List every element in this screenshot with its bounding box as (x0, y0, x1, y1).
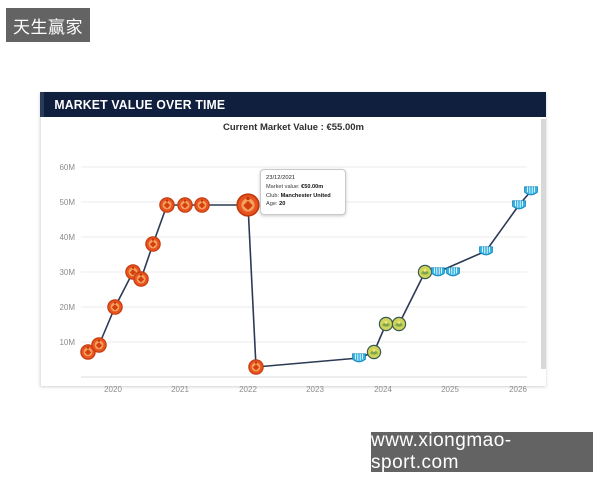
marker-point-16[interactable] (418, 265, 431, 278)
tooltip-age-label: Age: (266, 201, 278, 207)
marker-point-20[interactable] (513, 201, 526, 209)
x-tick-2024: 2024 (374, 385, 392, 394)
marker-point-19[interactable] (480, 247, 493, 255)
chart-tooltip: 23/12/2021 Market value: €50.00m Club: M… (260, 169, 346, 215)
x-tick-2020: 2020 (104, 385, 122, 394)
tooltip-date: 23/12/2021 (266, 174, 340, 183)
marker-point-9[interactable] (195, 198, 209, 212)
x-tick-2026: 2026 (509, 385, 527, 394)
card-scrollbar[interactable] (541, 119, 546, 369)
market-value-line (88, 191, 531, 367)
marker-point-21[interactable] (525, 187, 538, 195)
tooltip-market-value: €50.00m (301, 184, 323, 190)
marker-point-5[interactable] (134, 272, 148, 286)
marker-point-3[interactable] (108, 300, 122, 314)
watermark-bottom-right: www.xiongmao-sport.com (371, 432, 593, 472)
marker-point-2[interactable] (92, 338, 106, 352)
chart-y-axis-labels: 60M 50M 40M 30M 20M 10M (59, 163, 75, 347)
tooltip-market-value-row: Market value: €50.00m (266, 183, 340, 192)
marker-point-6[interactable] (146, 237, 160, 251)
y-tick-20m: 20M (59, 303, 75, 312)
card-header: MARKET VALUE OVER TIME (44, 92, 546, 117)
marker-point-7[interactable] (160, 198, 174, 212)
tooltip-age: 20 (279, 201, 285, 207)
watermark-top-left: 天生赢家 (6, 8, 90, 42)
x-tick-2021: 2021 (171, 385, 189, 394)
marker-point-highlighted[interactable] (237, 194, 259, 216)
marker-point-18[interactable] (447, 268, 460, 276)
tooltip-club-label: Club: (266, 193, 279, 199)
x-tick-2022: 2022 (239, 385, 257, 394)
marker-point-14[interactable] (379, 317, 392, 330)
y-tick-40m: 40M (59, 233, 75, 242)
y-tick-60m: 60M (59, 163, 75, 172)
y-tick-30m: 30M (59, 268, 75, 277)
marker-point-12[interactable] (353, 354, 366, 362)
marker-point-11[interactable] (249, 360, 263, 374)
chart-x-axis-labels: 2020 2021 2022 2023 2024 2025 2026 (104, 385, 527, 394)
current-market-value-label: Current Market Value : €55.00m (41, 122, 546, 133)
card-body: Current Market Value : €55.00m (40, 117, 546, 386)
marker-point-15[interactable] (392, 317, 405, 330)
tooltip-club-row: Club: Manchester United (266, 192, 340, 201)
market-value-chart-card: MARKET VALUE OVER TIME Current Market Va… (40, 92, 546, 386)
x-tick-2025: 2025 (441, 385, 459, 394)
card-header-title: MARKET VALUE OVER TIME (44, 97, 225, 112)
y-tick-50m: 50M (59, 198, 75, 207)
x-tick-2023: 2023 (306, 385, 324, 394)
y-tick-10m: 10M (59, 338, 75, 347)
tooltip-club: Manchester United (281, 193, 331, 199)
marker-point-13[interactable] (367, 345, 380, 358)
marker-point-8[interactable] (178, 198, 192, 212)
marker-point-17[interactable] (432, 268, 445, 276)
tooltip-age-row: Age: 20 (266, 200, 340, 209)
tooltip-market-value-label: Market value: (266, 184, 300, 190)
